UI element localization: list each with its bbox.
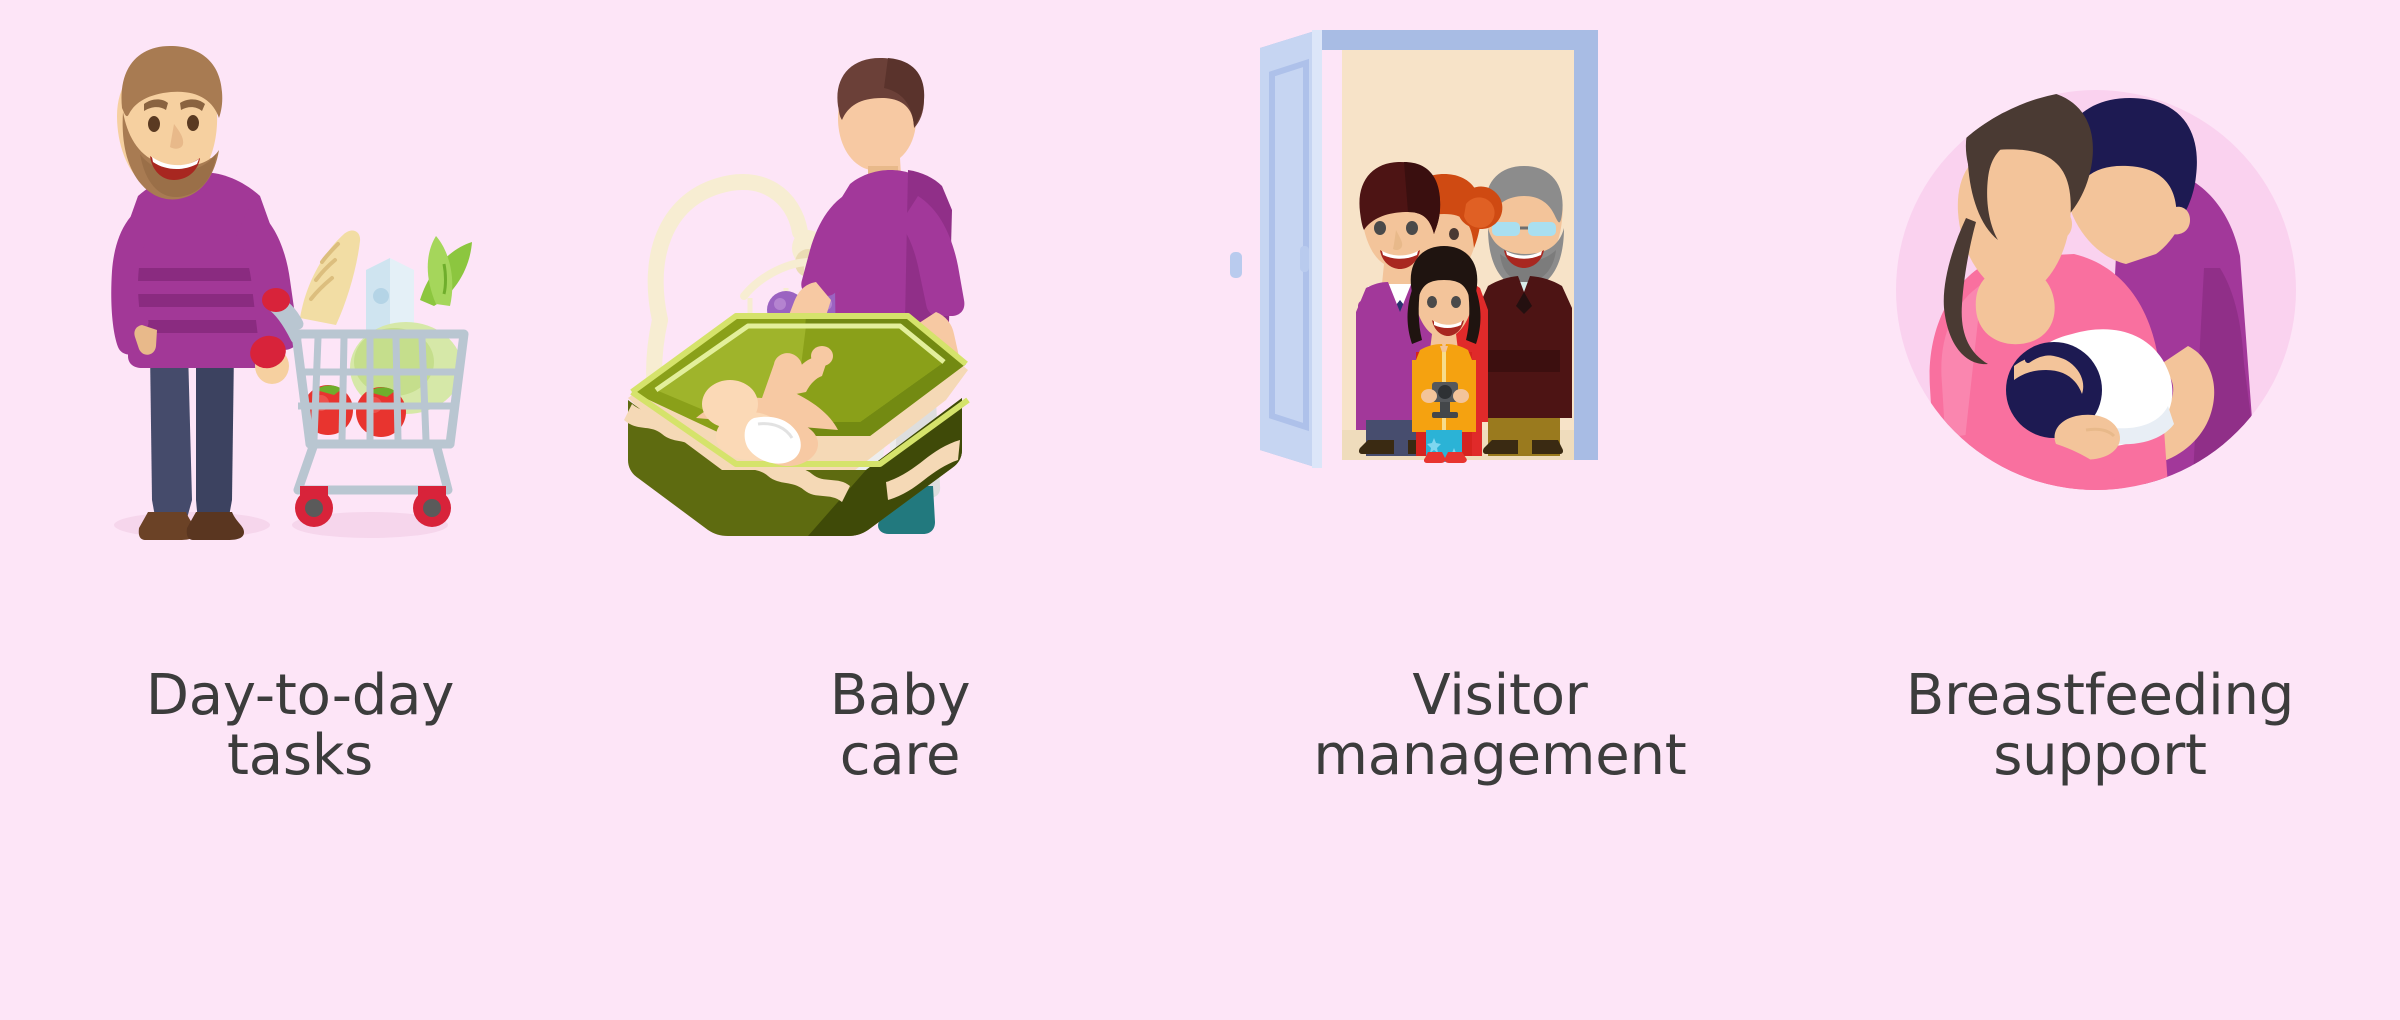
feature-caption-baby-care: Baby care (620, 666, 1180, 786)
feature-caption-breastfeeding-support: Breastfeeding support (1820, 666, 2380, 786)
feature-card-baby-care[interactable]: Baby care (600, 0, 1200, 1020)
illustration-mother-breastfeeding-with-partner (1800, 0, 2400, 660)
illustration-father-at-changing-crib (600, 0, 1200, 660)
feature-caption-visitor-management: Visitor management (1220, 666, 1780, 786)
feature-card-visitor-management[interactable]: Visitor management (1200, 0, 1800, 1020)
illustration-open-door-with-visitors (1200, 0, 1800, 660)
mother-breastfeeding-with-partner-icon (1800, 0, 2400, 660)
feature-card-day-to-day-tasks[interactable]: Day-to-day tasks (0, 0, 600, 1020)
man-pushing-grocery-cart-icon (0, 0, 600, 660)
visitor-girl (1408, 246, 1481, 463)
father-at-changing-crib-icon (600, 0, 1200, 660)
feature-icon-board: Day-to-day tasks (0, 0, 2400, 1020)
open-door-with-visitors-icon (1200, 0, 1800, 660)
feature-card-breastfeeding-support[interactable]: Breastfeeding support (1800, 0, 2400, 1020)
illustration-man-pushing-grocery-cart (0, 0, 600, 660)
feature-caption-day-to-day-tasks: Day-to-day tasks (20, 666, 580, 786)
